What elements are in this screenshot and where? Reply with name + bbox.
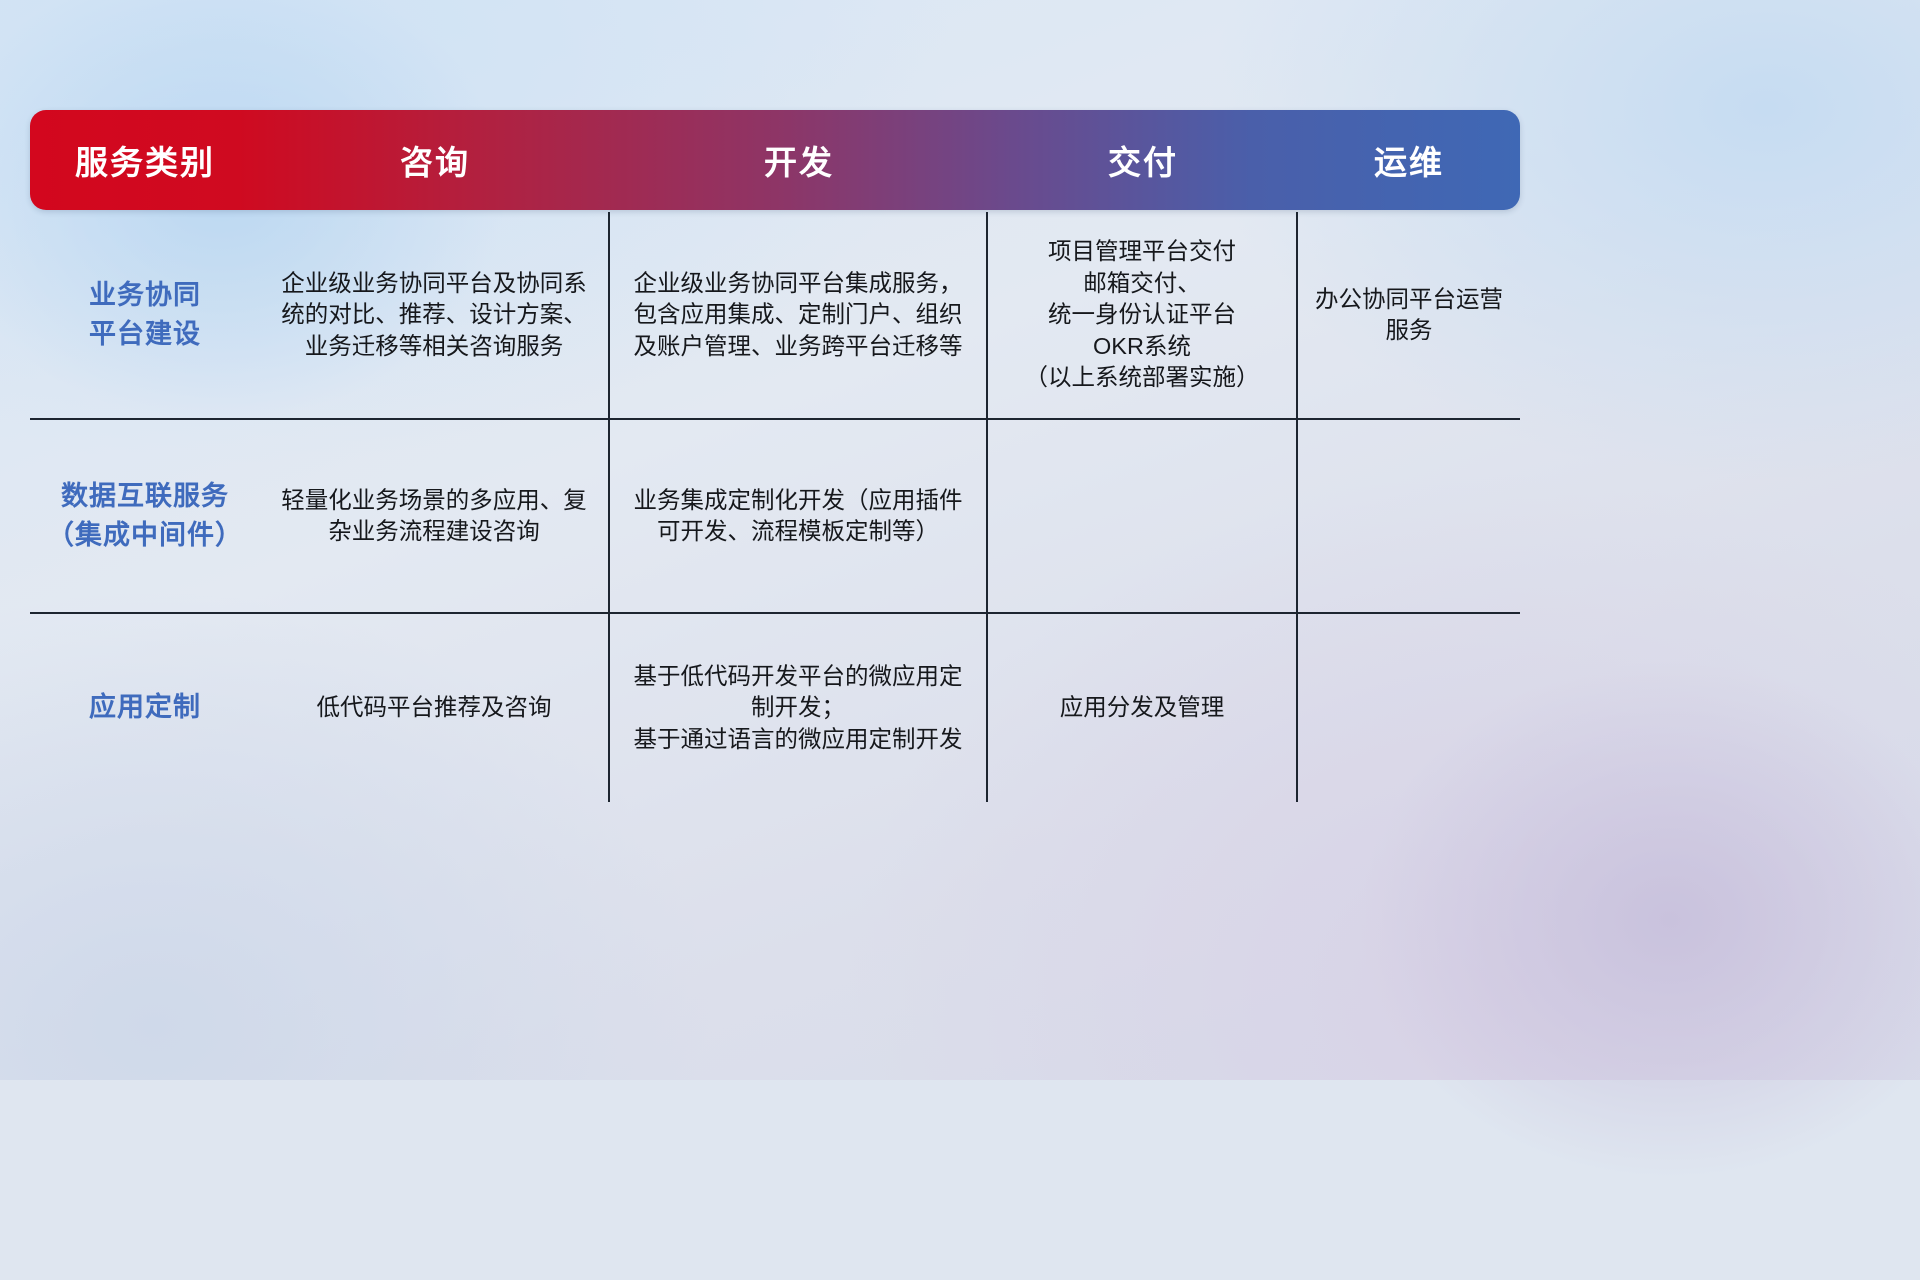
table-row: 应用定制 低代码平台推荐及咨询 基于低代码开发平台的微应用定 制开发； 基于通过… [30,614,1520,802]
row-label-business-collaboration: 业务协同 平台建设 [30,212,260,418]
cell-row1-operations: 办公协同平台运营服务 [1298,212,1520,418]
table-body: 业务协同 平台建设 企业级业务协同平台及协同系 统的对比、推荐、设计方案、 业务… [30,212,1520,802]
column-header-delivery: 交付 [988,136,1298,184]
cell-row3-delivery: 应用分发及管理 [988,614,1298,802]
column-header-operations: 运维 [1298,136,1520,184]
cell-row1-consulting: 企业级业务协同平台及协同系 统的对比、推荐、设计方案、 业务迁移等相关咨询服务 [260,212,610,418]
row-label-application-customization: 应用定制 [30,614,260,802]
cell-row3-consulting: 低代码平台推荐及咨询 [260,614,610,802]
table-header-row: 服务类别 咨询 开发 交付 运维 [30,110,1520,210]
cell-row2-operations [1298,420,1520,612]
cell-row2-consulting: 轻量化业务场景的多应用、复 杂业务流程建设咨询 [260,420,610,612]
column-header-category: 服务类别 [30,136,260,184]
cell-row3-operations [1298,614,1520,802]
cell-row2-development: 业务集成定制化开发（应用插件 可开发、流程模板定制等） [610,420,988,612]
service-matrix-table: 服务类别 咨询 开发 交付 运维 业务协同 平台建设 企业级业务协同平台及协同系… [30,110,1520,802]
cell-row1-delivery: 项目管理平台交付 邮箱交付、 统一身份认证平台 OKR系统 （以上系统部署实施） [988,212,1298,418]
cell-row1-development: 企业级业务协同平台集成服务， 包含应用集成、定制门户、组织 及账户管理、业务跨平… [610,212,988,418]
cell-row2-delivery [988,420,1298,612]
table-row: 业务协同 平台建设 企业级业务协同平台及协同系 统的对比、推荐、设计方案、 业务… [30,212,1520,420]
cell-row3-development: 基于低代码开发平台的微应用定 制开发； 基于通过语言的微应用定制开发 [610,614,988,802]
column-header-development: 开发 [610,136,988,184]
column-header-consulting: 咨询 [260,136,610,184]
table-row: 数据互联服务 （集成中间件） 轻量化业务场景的多应用、复 杂业务流程建设咨询 业… [30,420,1520,614]
row-label-data-interconnection: 数据互联服务 （集成中间件） [30,420,260,612]
